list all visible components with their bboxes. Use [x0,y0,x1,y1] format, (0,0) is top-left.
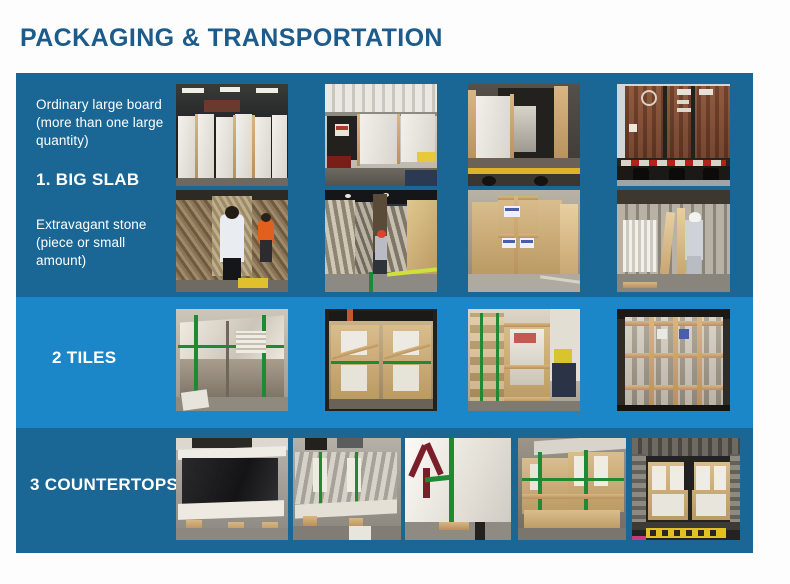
photo-white-slab-bundles-in-warehouse [176,84,288,186]
label-column-tiles: 2 TILES [16,297,176,428]
photo-container-loaded-with-countertop-crates [632,438,740,540]
photo-slabs-loading-into-truck-trailer [325,84,437,186]
heading-big-slab: 1. BIG SLAB [36,170,139,190]
photo-crated-tiles-being-wrapped [468,309,580,411]
packaging-panel: Ordinary large board (more than one larg… [16,73,753,553]
photo-white-wrapped-bundle-with-green-strap [405,438,511,540]
row-big-slab: Ordinary large board (more than one larg… [16,73,753,297]
photo-container-loaded-with-tile-crates [617,309,730,411]
photo-strapped-tile-pallet-on-ground [176,309,288,411]
label-column-countertops: 3 COUNTERTOPS [16,428,176,553]
caption-ordinary-large-board: Ordinary large board (more than one larg… [36,96,176,150]
row-countertops: 3 COUNTERTOPS [16,428,753,553]
photo-worker-walking-between-stone-slabs [325,190,437,292]
photo-workers-inspecting-granite-slab [176,190,288,292]
heading-tiles: 2 TILES [52,348,116,368]
caption-extravagant-stone: Extravagant stone (piece or small amount… [36,216,172,270]
row-tiles: 2 TILES [16,297,753,428]
photo-wooden-crates-of-countertops-strapped [518,438,626,540]
photo-two-wooden-crates-of-tiles [325,309,437,411]
photo-black-countertop-on-wood-pallet [176,438,288,540]
page-title: PACKAGING & TRANSPORTATION [20,23,443,53]
photo-brown-shipping-container-on-truck [617,84,730,186]
photo-wooden-crates-with-stone-bundles [468,190,580,292]
photo-slabs-secured-inside-flatbed-container [468,84,580,186]
label-column-big-slab: Ordinary large board (more than one larg… [16,73,176,297]
photo-worker-loading-crate-into-container [617,190,730,292]
heading-countertops: 3 COUNTERTOPS [30,475,178,495]
photo-grey-countertops-strapped-on-pallet [293,438,401,540]
